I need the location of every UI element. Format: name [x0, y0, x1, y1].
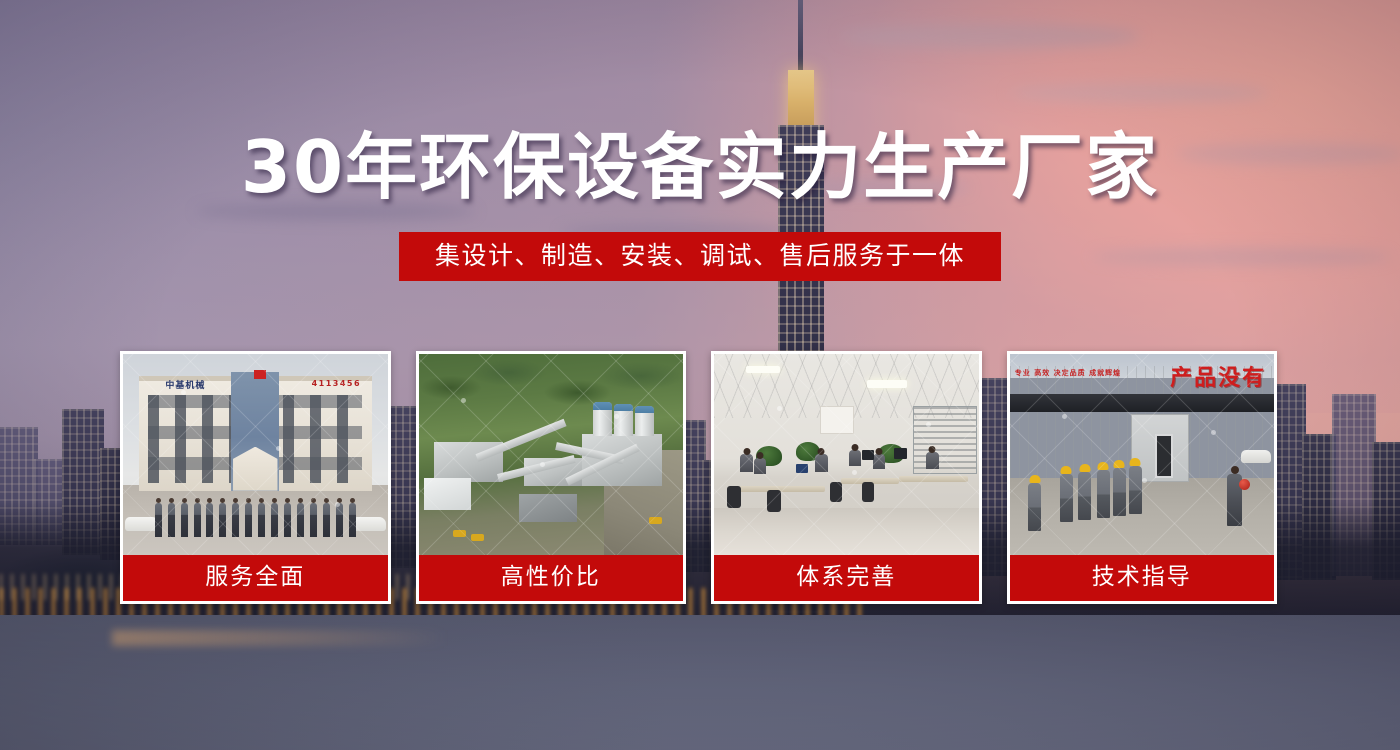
- card-label: 体系完善: [714, 555, 979, 601]
- card-label: 服务全面: [123, 555, 388, 601]
- building-phone-text: 4113456: [312, 379, 361, 388]
- factory-slogan-text: 专业 高效 决定品质 成就辉煌: [1015, 368, 1121, 379]
- feature-card[interactable]: 高性价比: [416, 351, 687, 604]
- card-photo-factory-workers: 产品没有 专业 高效 决定品质 成就辉煌: [1010, 354, 1275, 555]
- card-photo-headquarters: 中基机械 4113456: [123, 354, 388, 555]
- factory-banner-text: 产品没有: [1170, 360, 1266, 392]
- headline: 30年环保设备实力生产厂家: [0, 131, 1400, 203]
- subtitle-banner: 集设计、制造、安装、调试、售后服务于一体: [399, 232, 1001, 281]
- feature-card[interactable]: 体系完善: [711, 351, 982, 604]
- card-photo-industrial-plant: [419, 354, 684, 555]
- card-label: 高性价比: [419, 555, 684, 601]
- banner-content: 30年环保设备实力生产厂家 集设计、制造、安装、调试、售后服务于一体 中基机械 …: [0, 0, 1400, 750]
- building-sign-text: 中基机械: [165, 378, 205, 391]
- hero-banner: 30年环保设备实力生产厂家 集设计、制造、安装、调试、售后服务于一体 中基机械 …: [0, 0, 1400, 750]
- card-photo-office-interior: [714, 354, 979, 555]
- feature-card[interactable]: 中基机械 4113456: [120, 351, 391, 604]
- feature-card[interactable]: 产品没有 专业 高效 决定品质 成就辉煌: [1007, 351, 1278, 604]
- card-label: 技术指导: [1010, 555, 1275, 601]
- feature-card-grid: 中基机械 4113456: [120, 351, 1277, 604]
